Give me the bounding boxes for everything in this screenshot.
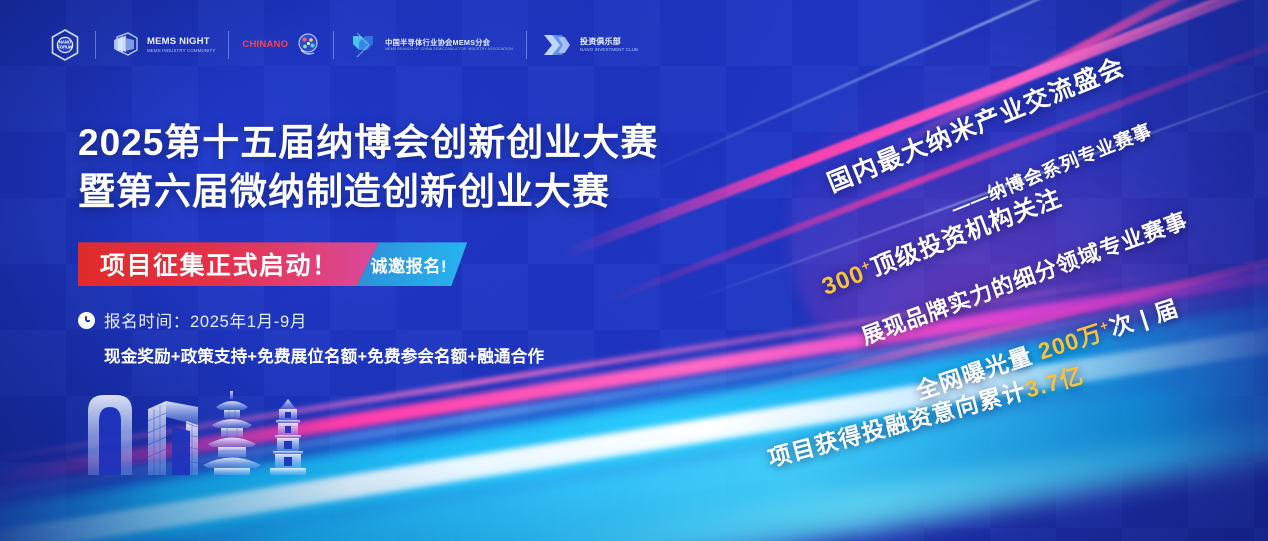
logo-separator bbox=[228, 31, 229, 59]
logo-separator bbox=[333, 31, 334, 59]
svg-text:FORUM: FORUM bbox=[57, 44, 73, 49]
clock-icon bbox=[78, 312, 95, 329]
wave-shield-icon bbox=[540, 29, 574, 61]
logo-title: 中国半导体行业协会MEMS分会 bbox=[385, 39, 513, 46]
logo-title: MEMS NIGHT bbox=[147, 37, 215, 47]
china-landmarks-silhouette bbox=[82, 387, 332, 479]
highlight-largest-nano-expo: 国内最大纳米产业交流盛会 bbox=[821, 47, 1129, 200]
logo-chinano[interactable]: CHINANO bbox=[242, 30, 320, 60]
cube-layers-icon bbox=[109, 29, 141, 61]
hex-badge-icon: NANO FORUM bbox=[48, 28, 82, 62]
logo-title: CHINANO bbox=[242, 40, 288, 50]
logo-mems-night-text: MEMS NIGHT MEMS INDUSTRY COMMUNITY bbox=[147, 37, 215, 53]
page-title-line1: 2025第十五届纳博会创新创业大赛 bbox=[78, 118, 658, 167]
call-to-action-badge[interactable]: 项目征集正式启动！ 诚邀报名! bbox=[78, 242, 508, 286]
logo-chinano-text: CHINANO bbox=[242, 40, 288, 50]
landmark-gate-of-the-orient bbox=[88, 395, 132, 475]
cta-secondary-label: 诚邀报名! bbox=[371, 252, 448, 277]
knot-cross-icon bbox=[347, 29, 379, 61]
page-title-line2: 暨第六届微纳制造创新创业大赛 bbox=[78, 167, 658, 216]
logo-nano-summit[interactable]: NANO FORUM bbox=[48, 28, 82, 62]
logo-csia-mems[interactable]: 中国半导体行业协会MEMS分会 MEMS BRANCH OF CHINA SEM… bbox=[347, 29, 513, 61]
perks-list: 现金奖励+政策支持+免费展位名额+免费参会名额+融通合作 bbox=[104, 343, 658, 367]
partner-logo-bar: NANO FORUM MEMS NIGHT MEMS INDUSTRY COMM… bbox=[48, 28, 638, 62]
landmark-cctv-tower bbox=[148, 401, 198, 475]
registration-period: 报名时间：2025年1月-9月 bbox=[78, 308, 658, 332]
logo-csia-mems-text: 中国半导体行业协会MEMS分会 MEMS BRANCH OF CHINA SEM… bbox=[385, 39, 513, 52]
molecule-sphere-icon bbox=[294, 30, 320, 60]
cta-primary-label: 项目征集正式启动！ bbox=[100, 246, 339, 282]
promo-banner: NANO FORUM MEMS NIGHT MEMS INDUSTRY COMM… bbox=[0, 0, 1268, 541]
logo-mems-night[interactable]: MEMS NIGHT MEMS INDUSTRY COMMUNITY bbox=[109, 29, 215, 61]
logo-subtitle: MEMS INDUSTRY COMMUNITY bbox=[147, 49, 215, 53]
logo-investment-club-text: 投资俱乐部 NANO INVESTMENT CLUB bbox=[580, 38, 638, 52]
logo-subtitle: NANO INVESTMENT CLUB bbox=[580, 48, 638, 52]
logo-separator bbox=[95, 31, 96, 59]
logo-separator bbox=[526, 31, 527, 59]
highlight-text: 国内最大纳米产业交流盛会 bbox=[824, 53, 1129, 198]
logo-title: 投资俱乐部 bbox=[580, 38, 638, 46]
main-content: 2025第十五届纳博会创新创业大赛 暨第六届微纳制造创新创业大赛 项目征集正式启… bbox=[78, 118, 658, 367]
landmark-big-wild-goose-pagoda bbox=[270, 399, 306, 475]
logo-subtitle: MEMS BRANCH OF CHINA SEMICONDUCTOR INDUS… bbox=[385, 48, 513, 52]
cta-primary[interactable]: 项目征集正式启动！ bbox=[78, 242, 379, 286]
registration-period-text: 报名时间：2025年1月-9月 bbox=[104, 308, 307, 332]
logo-investment-club[interactable]: 投资俱乐部 NANO INVESTMENT CLUB bbox=[540, 29, 638, 61]
landmark-yellow-crane-tower bbox=[203, 391, 261, 475]
